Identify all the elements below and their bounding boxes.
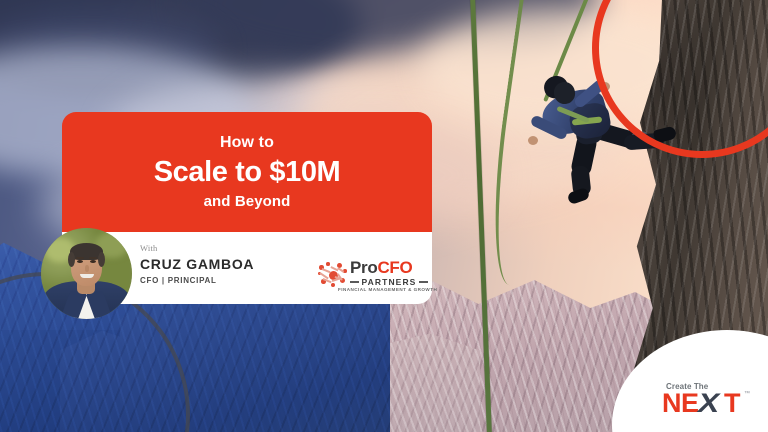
procfo-wordmark: ProCFO [350,258,412,278]
avatar-hair-side [68,252,75,267]
title-headline: Scale to $10M [154,154,341,190]
procfo-tagline: FINANCIAL MANAGEMENT & GROWTH [338,287,437,293]
slide-canvas: Create The N E X T ™ How to Scale to $10… [0,0,768,432]
create-the-next-wordmark: N E X T ™ [662,391,758,417]
logo-letter-x: X [698,390,718,416]
procfo-word-partners: PARTNERS [362,277,417,287]
title-kicker: How to [220,133,274,153]
avatar [41,228,132,319]
avatar-eye [90,260,96,263]
trademark-icon: ™ [744,391,750,397]
avatar-eye [77,260,83,263]
title-card: How to Scale to $10M and Beyond [62,112,432,232]
avatar-brow [89,257,97,259]
avatar-smile [80,274,94,278]
title-subline: and Beyond [204,192,291,212]
procfo-word-cfo: CFO [377,258,412,277]
avatar-nose [85,265,89,272]
procfo-network-dots-icon [318,262,348,288]
procfo-partners-logo: ProCFO PARTNERS FINANCIAL MANAGEMENT & G… [318,258,428,296]
speaker-name: CRUZ GAMBOA [140,255,254,273]
climber-hand [528,136,538,145]
logo-letter-e: E [681,390,698,416]
procfo-partners-row: PARTNERS [350,277,428,287]
create-the-next-logo: Create The N E X T ™ [662,382,758,422]
logo-letter-n: N [662,390,681,416]
avatar-hair-side [98,252,105,267]
avatar-brow [76,257,84,259]
rule-left [350,281,359,283]
speaker-role: CFO | PRINCIPAL [140,275,254,287]
logo-letter-t: T [724,390,740,416]
rule-right [419,281,428,283]
procfo-word-pro: Pro [350,258,377,277]
speaker-with-label: With [140,243,254,254]
speaker-details: With CRUZ GAMBOA CFO | PRINCIPAL [140,243,254,287]
